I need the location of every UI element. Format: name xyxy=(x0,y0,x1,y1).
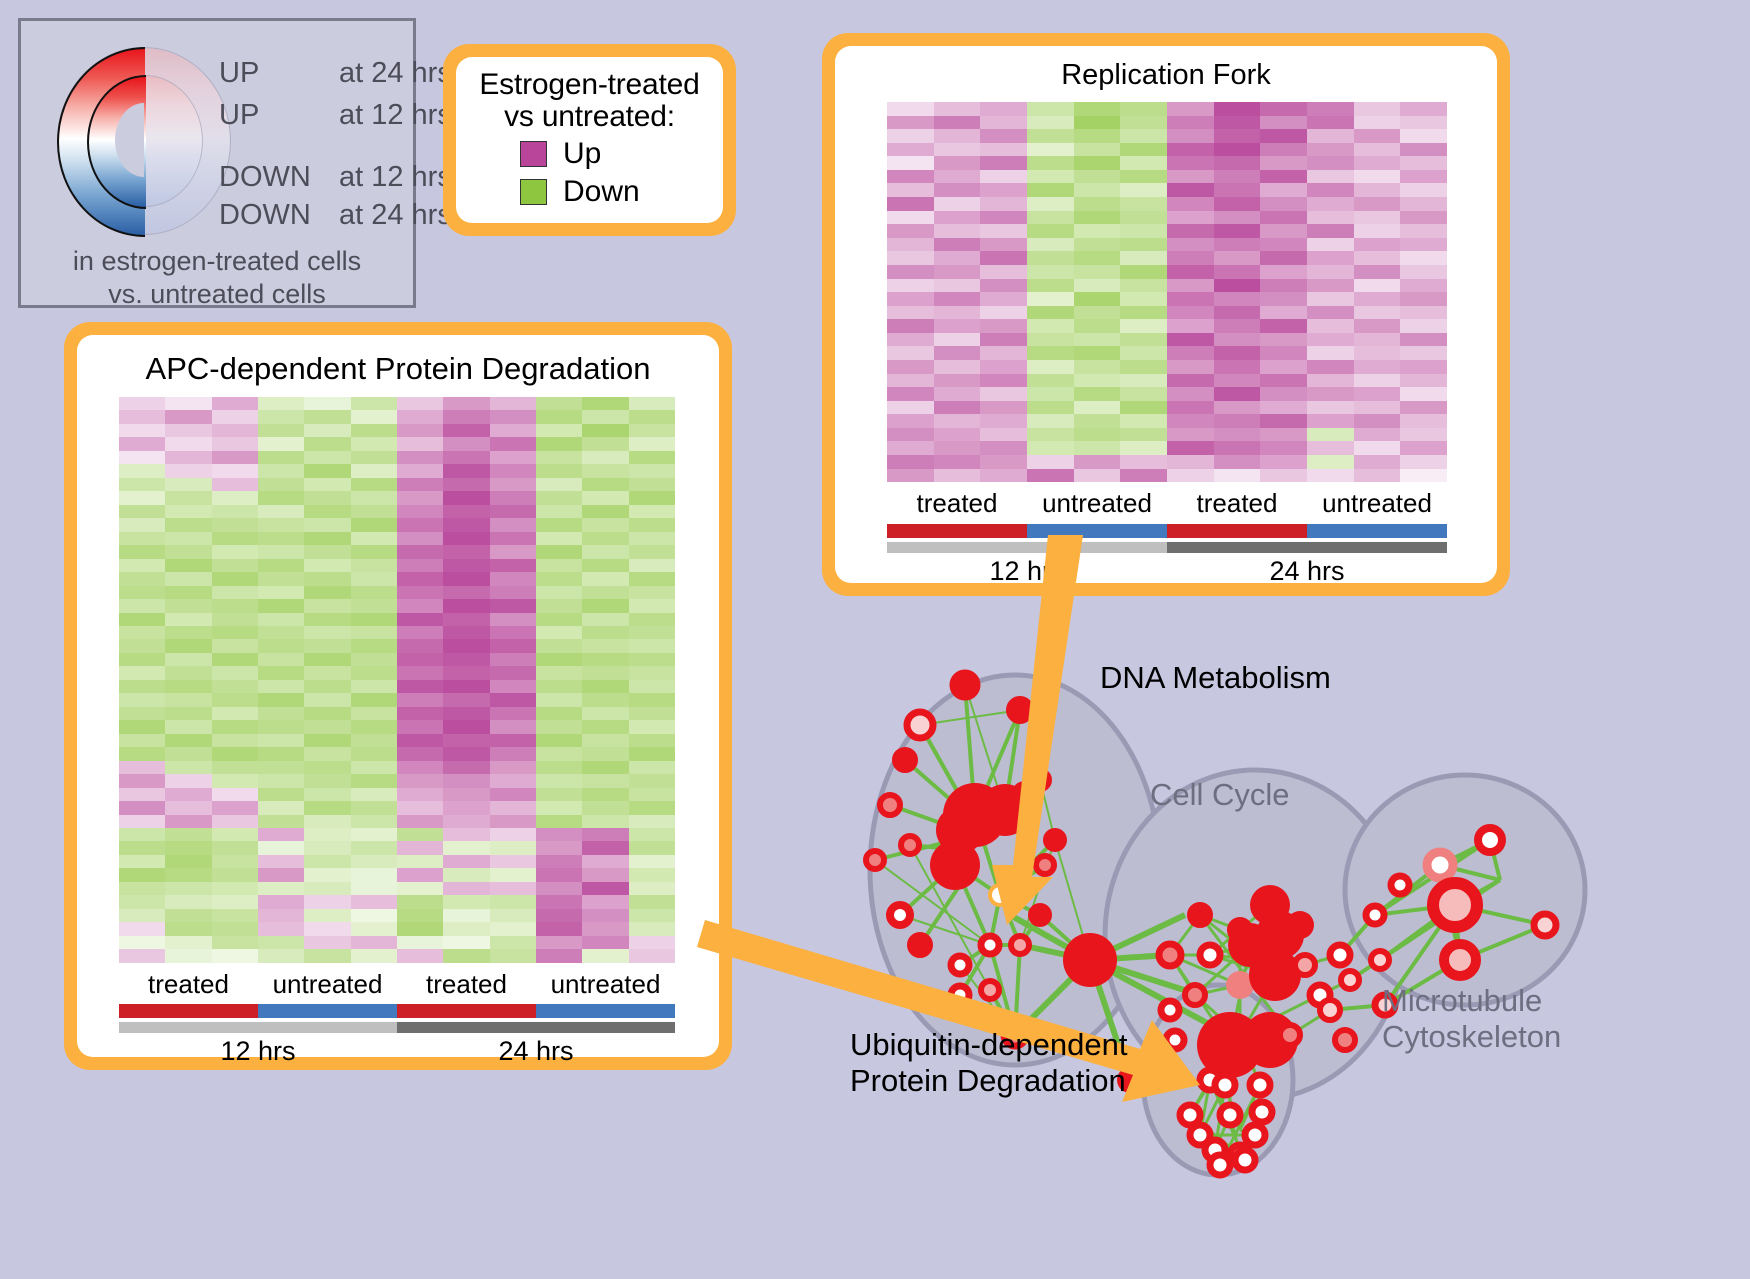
key-caption-line1: in estrogen-treated cells xyxy=(21,245,413,278)
heatmap-cell xyxy=(1214,238,1261,252)
network-diagram: DNA Metabolism Cell Cycle Microtubule Cy… xyxy=(800,615,1750,1279)
heatmap-row xyxy=(119,788,675,801)
heatmap-cell xyxy=(934,265,981,279)
heatmap-cell xyxy=(1260,224,1307,238)
heatmap-row xyxy=(119,491,675,504)
heatmap-cell xyxy=(258,572,304,585)
key-caption-line2: vs. untreated cells xyxy=(21,278,413,311)
heatmap-row xyxy=(119,909,675,922)
heatmap-cell xyxy=(629,437,675,450)
heatmap-cell xyxy=(397,613,443,626)
heatmap-cell xyxy=(443,545,489,558)
heatmap-cell xyxy=(629,922,675,935)
heatmap-cell xyxy=(629,734,675,747)
heatmap-cell xyxy=(1307,251,1354,265)
heatmap-cell xyxy=(536,693,582,706)
heatmap-cell xyxy=(304,653,350,666)
heatmap-cell xyxy=(1214,401,1261,415)
heatmap-cell xyxy=(443,518,489,531)
heatmap-cell xyxy=(1214,129,1261,143)
heatmap-cell xyxy=(980,251,1027,265)
heatmap-cell xyxy=(351,774,397,787)
heatmap-cell xyxy=(1307,279,1354,293)
heatmap-row xyxy=(119,707,675,720)
heatmap-cell xyxy=(1354,306,1401,320)
heatmap-cell xyxy=(582,437,628,450)
heatmap-cell xyxy=(1214,116,1261,130)
heatmap-cell xyxy=(258,410,304,423)
heatmap-cell xyxy=(397,774,443,787)
heatmap-row xyxy=(119,613,675,626)
heatmap-cell xyxy=(1120,197,1167,211)
heatmap-cell xyxy=(212,841,258,854)
heatmap-cell xyxy=(304,949,350,962)
heatmap-cell xyxy=(490,828,536,841)
heatmap-cell xyxy=(1074,469,1121,483)
heatmap-cell xyxy=(980,279,1027,293)
heatmap-cell xyxy=(1354,455,1401,469)
heatmap-cell xyxy=(1400,183,1447,197)
heatmap-cell xyxy=(1167,346,1214,360)
heatmap-cell xyxy=(1354,387,1401,401)
heatmap-cell xyxy=(304,828,350,841)
heatmap-cell xyxy=(1307,143,1354,157)
heatmap-cell xyxy=(212,868,258,881)
heatmap-cell xyxy=(1120,292,1167,306)
heatmap-cell xyxy=(351,936,397,949)
heatmap-row xyxy=(887,238,1447,252)
heatmap-cell xyxy=(212,774,258,787)
treatment-bar-segment xyxy=(258,1004,397,1018)
heatmap-row xyxy=(119,922,675,935)
heatmap-cell xyxy=(1307,360,1354,374)
heatmap-cell xyxy=(165,680,211,693)
heatmap-cell xyxy=(165,626,211,639)
heatmap-cell xyxy=(1307,129,1354,143)
heatmap-cell xyxy=(397,478,443,491)
heatmap-cell xyxy=(1307,414,1354,428)
heatmap-cell xyxy=(351,613,397,626)
heatmap-cell xyxy=(490,949,536,962)
heatmap-cell xyxy=(582,761,628,774)
heatmap-cell xyxy=(1074,129,1121,143)
heatmap-cell xyxy=(443,532,489,545)
heatmap-cell xyxy=(304,936,350,949)
heatmap-cell xyxy=(1027,129,1074,143)
heatmap-cell xyxy=(1354,333,1401,347)
heatmap-cell xyxy=(443,572,489,585)
heatmap-cell xyxy=(165,788,211,801)
heatmap-cell xyxy=(397,761,443,774)
heatmap-cell xyxy=(1260,374,1307,388)
heatmap-cell xyxy=(351,801,397,814)
heatmap-row xyxy=(887,116,1447,130)
heatmap-cell xyxy=(1167,360,1214,374)
heatmap-cell xyxy=(304,922,350,935)
heatmap-cell xyxy=(490,572,536,585)
heatmap-cell xyxy=(258,639,304,652)
heatmap-cell xyxy=(536,909,582,922)
heatmap-cell xyxy=(258,397,304,410)
heatmap-cell xyxy=(582,559,628,572)
heatmap-cell xyxy=(1307,469,1354,483)
heatmap-cell xyxy=(397,437,443,450)
heatmap-cell xyxy=(980,211,1027,225)
heatmap-cell xyxy=(1400,143,1447,157)
heatmap-cell xyxy=(258,720,304,733)
treatment-bar-segment xyxy=(887,524,1027,538)
heatmap-cell xyxy=(1167,306,1214,320)
ubiquitin-label-line1: Ubiquitin-dependent xyxy=(850,1027,1128,1063)
heatmap-cell xyxy=(980,116,1027,130)
heatmap-cell xyxy=(934,143,981,157)
heatmap-row xyxy=(119,666,675,679)
heatmap-cell xyxy=(1307,374,1354,388)
heatmap-cell xyxy=(490,545,536,558)
heatmap-cell xyxy=(351,437,397,450)
heatmap-cell xyxy=(212,518,258,531)
heatmap-cell xyxy=(1167,441,1214,455)
heatmap-cell xyxy=(443,693,489,706)
heatmap-cell xyxy=(351,720,397,733)
heatmap-cell xyxy=(1214,414,1261,428)
heatmap-cell xyxy=(629,545,675,558)
heatmap-cell xyxy=(212,626,258,639)
heatmap-cell xyxy=(1214,224,1261,238)
heatmap-cell xyxy=(351,505,397,518)
cluster-label-ubiquitin-protein-degradation: Ubiquitin-dependent Protein Degradation xyxy=(850,1027,1128,1098)
heatmap-cell xyxy=(119,491,165,504)
heatmap-cell xyxy=(1260,251,1307,265)
time-bar-segment xyxy=(1167,542,1447,553)
heatmap-cell xyxy=(165,613,211,626)
heatmap-cell xyxy=(397,868,443,881)
heatmap-cell xyxy=(397,559,443,572)
heatmap-cell xyxy=(1120,387,1167,401)
heatmap-cell xyxy=(258,882,304,895)
heatmap-cell xyxy=(119,720,165,733)
heatmap-cell xyxy=(443,639,489,652)
heatmap-cell xyxy=(1120,441,1167,455)
heatmap-row xyxy=(119,868,675,881)
heatmap-cell xyxy=(582,895,628,908)
heatmap-cell xyxy=(629,639,675,652)
heatmap-cell xyxy=(490,397,536,410)
heatmap-cell xyxy=(1400,129,1447,143)
heatmap-cell xyxy=(1400,414,1447,428)
heatmap-cell xyxy=(1260,156,1307,170)
heatmap-cell xyxy=(304,599,350,612)
heatmap-cell xyxy=(258,478,304,491)
heatmap-row xyxy=(119,882,675,895)
heatmap-cell xyxy=(351,707,397,720)
heatmap-cell xyxy=(1260,333,1307,347)
heatmap-cell xyxy=(1027,238,1074,252)
heatmap-row xyxy=(887,102,1447,116)
heatmap-cell xyxy=(443,653,489,666)
heatmap-cell xyxy=(934,346,981,360)
heatmap-cell xyxy=(258,532,304,545)
heatmap-cell xyxy=(1167,197,1214,211)
heatmap-cell xyxy=(582,451,628,464)
heatmap-cell xyxy=(1307,333,1354,347)
heatmap-cell xyxy=(351,478,397,491)
heatmap-cell xyxy=(119,801,165,814)
heatmap-cell xyxy=(629,410,675,423)
heatmap-cell xyxy=(490,424,536,437)
heatmap-cell xyxy=(212,666,258,679)
heatmap-cell xyxy=(119,788,165,801)
heatmap-cell xyxy=(490,788,536,801)
heatmap-cell xyxy=(582,532,628,545)
heatmap-cell xyxy=(1027,102,1074,116)
heatmap-cell xyxy=(304,451,350,464)
column-group-label: untreated xyxy=(536,969,675,1000)
heatmap-cell xyxy=(1400,170,1447,184)
heatmap-cell xyxy=(582,639,628,652)
heatmap-cell xyxy=(490,532,536,545)
heatmap-cell xyxy=(1074,251,1121,265)
heatmap-cell xyxy=(887,469,934,483)
heatmap-cell xyxy=(258,828,304,841)
heatmap-cell xyxy=(1167,265,1214,279)
heatmap-cell xyxy=(443,801,489,814)
heatmap-cell xyxy=(258,653,304,666)
heatmap-cell xyxy=(1120,279,1167,293)
heatmap-cell xyxy=(119,761,165,774)
heatmap-cell xyxy=(443,424,489,437)
heatmap-cell xyxy=(443,437,489,450)
legend-swatch-up xyxy=(520,141,547,167)
heatmap-cell xyxy=(582,815,628,828)
heatmap-cell xyxy=(1120,102,1167,116)
heatmap-cell xyxy=(490,464,536,477)
treatment-bar-segment xyxy=(1307,524,1447,538)
heatmap-cell xyxy=(443,397,489,410)
heatmap-cell xyxy=(1214,143,1261,157)
heatmap-cell xyxy=(304,545,350,558)
heatmap-cell xyxy=(351,949,397,962)
legend-label-up: Up xyxy=(563,137,601,171)
heatmap-cell xyxy=(397,410,443,423)
heatmap-cell xyxy=(1400,251,1447,265)
apc-treatment-bar xyxy=(119,1004,675,1018)
heatmap-cell xyxy=(1260,129,1307,143)
heatmap-cell xyxy=(119,774,165,787)
heatmap-cell xyxy=(629,693,675,706)
heatmap-cell xyxy=(1027,333,1074,347)
time-group-label: 12 hrs xyxy=(119,1036,397,1067)
heatmap-cell xyxy=(258,599,304,612)
heatmap-cell xyxy=(165,855,211,868)
heatmap-cell xyxy=(629,788,675,801)
heatmap-cell xyxy=(119,666,165,679)
heatmap-cell xyxy=(1074,265,1121,279)
heatmap-cell xyxy=(165,693,211,706)
heatmap-cell xyxy=(536,653,582,666)
heatmap-cell xyxy=(1307,265,1354,279)
heatmap-cell xyxy=(212,788,258,801)
heatmap-cell xyxy=(165,815,211,828)
heatmap-cell xyxy=(536,437,582,450)
replication-fork-column-labels: treateduntreatedtreateduntreated xyxy=(887,488,1447,519)
heatmap-cell xyxy=(490,693,536,706)
heatmap-cell xyxy=(397,828,443,841)
heatmap-cell xyxy=(582,491,628,504)
heatmap-cell xyxy=(1074,143,1121,157)
heatmap-cell xyxy=(165,491,211,504)
heatmap-cell xyxy=(1260,414,1307,428)
heatmap-cell xyxy=(1120,224,1167,238)
heatmap-cell xyxy=(934,441,981,455)
heatmap-cell xyxy=(980,346,1027,360)
key-time-down-12: at 12 hrs xyxy=(339,161,452,194)
heatmap-cell xyxy=(1307,387,1354,401)
heatmap-cell xyxy=(165,666,211,679)
heatmap-cell xyxy=(490,909,536,922)
heatmap-cell xyxy=(119,841,165,854)
heatmap-cell xyxy=(1074,414,1121,428)
legend-swatch-down xyxy=(520,179,547,205)
heatmap-cell xyxy=(212,949,258,962)
heatmap-cell xyxy=(1120,333,1167,347)
heatmap-row xyxy=(119,936,675,949)
heatmap-cell xyxy=(582,666,628,679)
heatmap-cell xyxy=(980,238,1027,252)
heatmap-cell xyxy=(536,532,582,545)
heatmap-cell xyxy=(119,734,165,747)
heatmap-cell xyxy=(212,922,258,935)
heatmap-cell xyxy=(304,572,350,585)
heatmap-cell xyxy=(582,909,628,922)
heatmap-cell xyxy=(980,224,1027,238)
heatmap-cell xyxy=(212,882,258,895)
time-bar-segment xyxy=(397,1022,675,1033)
heatmap-cell xyxy=(212,559,258,572)
heatmap-cell xyxy=(397,747,443,760)
heatmap-cell xyxy=(1167,333,1214,347)
heatmap-cell xyxy=(887,441,934,455)
heatmap-cell xyxy=(443,599,489,612)
heatmap-cell xyxy=(582,572,628,585)
heatmap-cell xyxy=(1120,428,1167,442)
heatmap-cell xyxy=(443,815,489,828)
heatmap-row xyxy=(887,401,1447,415)
heatmap-cell xyxy=(1354,211,1401,225)
heatmap-cell xyxy=(629,909,675,922)
heatmap-cell xyxy=(1120,251,1167,265)
heatmap-cell xyxy=(304,855,350,868)
heatmap-cell xyxy=(119,559,165,572)
heatmap-cell xyxy=(1074,197,1121,211)
heatmap-cell xyxy=(1214,360,1261,374)
heatmap-cell xyxy=(1354,143,1401,157)
heatmap-cell xyxy=(397,855,443,868)
heatmap-row xyxy=(887,319,1447,333)
heatmap-cell xyxy=(1307,346,1354,360)
heatmap-cell xyxy=(1354,414,1401,428)
heatmap-cell xyxy=(887,346,934,360)
heatmap-cell xyxy=(1214,279,1261,293)
heatmap-cell xyxy=(1167,292,1214,306)
heatmap-cell xyxy=(351,451,397,464)
heatmap-cell xyxy=(490,680,536,693)
heatmap-cell xyxy=(1354,360,1401,374)
heatmap-cell xyxy=(443,505,489,518)
heatmap-cell xyxy=(490,720,536,733)
heatmap-cell xyxy=(887,374,934,388)
heatmap-cell xyxy=(351,586,397,599)
heatmap-cell xyxy=(397,599,443,612)
heatmap-cell xyxy=(1307,428,1354,442)
heatmap-cell xyxy=(1400,279,1447,293)
heatmap-cell xyxy=(165,653,211,666)
heatmap-cell xyxy=(536,815,582,828)
heatmap-cell xyxy=(443,666,489,679)
heatmap-cell xyxy=(1354,197,1401,211)
heatmap-cell xyxy=(351,882,397,895)
heatmap-cell xyxy=(1027,469,1074,483)
heatmap-cell xyxy=(304,626,350,639)
heatmap-cell xyxy=(1260,211,1307,225)
heatmap-cell xyxy=(887,387,934,401)
heatmap-cell xyxy=(1167,211,1214,225)
heatmap-cell xyxy=(443,895,489,908)
heatmap-cell xyxy=(490,895,536,908)
heatmap-cell xyxy=(536,747,582,760)
heatmap-cell xyxy=(1307,292,1354,306)
heatmap-cell xyxy=(443,478,489,491)
heatmap-cell xyxy=(887,129,934,143)
heatmap-cell xyxy=(536,882,582,895)
heatmap-cell xyxy=(304,666,350,679)
heatmap-cell xyxy=(304,747,350,760)
heatmap-row xyxy=(887,156,1447,170)
heatmap-cell xyxy=(258,949,304,962)
heatmap-row xyxy=(887,197,1447,211)
heatmap-cell xyxy=(397,424,443,437)
heatmap-row xyxy=(119,653,675,666)
heatmap-cell xyxy=(934,251,981,265)
heatmap-cell xyxy=(1214,387,1261,401)
heatmap-cell xyxy=(1167,279,1214,293)
heatmap-cell xyxy=(1400,292,1447,306)
heatmap-cell xyxy=(258,815,304,828)
heatmap-cell xyxy=(934,319,981,333)
heatmap-cell xyxy=(397,909,443,922)
treatment-bar-segment xyxy=(1167,524,1307,538)
network-svg xyxy=(800,615,1750,1279)
heatmap-cell xyxy=(165,882,211,895)
heatmap-cell xyxy=(1400,374,1447,388)
color-key-box: UPat 24 hrs UPat 12 hrs DOWNat 12 hrs DO… xyxy=(18,18,416,308)
heatmap-cell xyxy=(934,428,981,442)
heatmap-cell xyxy=(582,505,628,518)
heatmap-cell xyxy=(1074,102,1121,116)
heatmap-cell xyxy=(351,788,397,801)
heatmap-cell xyxy=(119,410,165,423)
heatmap-cell xyxy=(1074,441,1121,455)
heatmap-cell xyxy=(980,170,1027,184)
heatmap-cell xyxy=(1354,346,1401,360)
heatmap-cell xyxy=(351,693,397,706)
heatmap-cell xyxy=(1260,360,1307,374)
heatmap-cell xyxy=(351,855,397,868)
heatmap-cell xyxy=(1214,333,1261,347)
heatmap-cell xyxy=(165,505,211,518)
heatmap-cell xyxy=(629,680,675,693)
heatmap-cell xyxy=(1120,306,1167,320)
